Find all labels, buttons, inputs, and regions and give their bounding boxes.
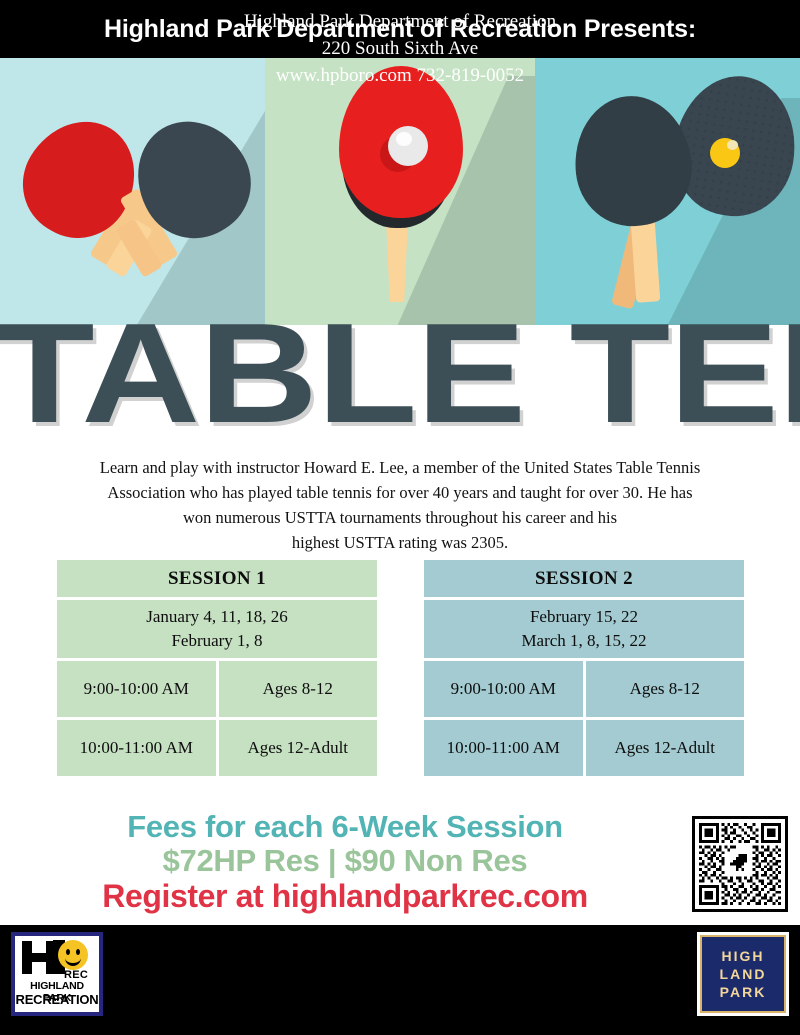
description-line-2: Association who has played table tennis … (0, 480, 800, 505)
hero-panel-red-paddle (265, 58, 535, 325)
description-line-4: highest USTTA rating was 2305. (0, 530, 800, 555)
fees-prices: $72HP Res | $90 Non Res (0, 844, 690, 878)
session-dates-line-1: January 4, 11, 18, 26 (146, 605, 288, 629)
rubber-dots-texture (569, 90, 698, 231)
session-slot-time: 9:00-10:00 AM (57, 661, 216, 717)
session-slot-time: 9:00-10:00 AM (424, 661, 583, 717)
fees-block: Fees for each 6-Week Session $72HP Res |… (0, 810, 690, 914)
fees-heading: Fees for each 6-Week Session (0, 810, 690, 844)
table-row: 9:00-10:00 AM Ages 8-12 (424, 661, 744, 717)
description-line-1: Learn and play with instructor Howard E.… (0, 455, 800, 480)
footer-bar (0, 925, 800, 1035)
table-row: 9:00-10:00 AM Ages 8-12 (57, 661, 377, 717)
session-slot-ages: Ages 12-Adult (219, 720, 378, 776)
hp-recreation-logo: REC HIGHLAND PARK RECREATION (11, 932, 103, 1016)
qr-code[interactable] (692, 816, 788, 912)
session-slot-time: 10:00-11:00 AM (57, 720, 216, 776)
highland-park-logo-line-3: PARK (720, 983, 767, 1001)
highland-park-logo-line-2: LAND (720, 965, 767, 983)
session-slot-ages: Ages 12-Adult (586, 720, 745, 776)
footer-line-2: 220 South Sixth Ave (160, 35, 640, 62)
flyer-page: Highland Park Department of Recreation P… (0, 0, 800, 1035)
page-title: TABLE TENNIS (0, 318, 800, 446)
session-dates-line-2: March 1, 8, 15, 22 (521, 629, 646, 653)
description-paragraph: Learn and play with instructor Howard E.… (0, 455, 800, 555)
logo-line-2: RECREATION (15, 992, 99, 1007)
table-row: SESSION 2 (424, 560, 744, 597)
session-heading: SESSION 1 (57, 560, 377, 597)
yellow-ball-highlight (727, 140, 738, 150)
session-heading: SESSION 2 (424, 560, 744, 597)
table-row: 10:00-11:00 AM Ages 12-Adult (424, 720, 744, 776)
table-row: January 4, 11, 18, 26 February 1, 8 (57, 600, 377, 658)
register-link[interactable]: Register at highlandparkrec.com (0, 878, 690, 914)
highland-park-logo-line-1: HIGH (722, 947, 765, 965)
hero-image-strip (0, 58, 800, 325)
footer-line-3: www.hpboro.com 732-819-0052 (160, 62, 640, 89)
table-row: 10:00-11:00 AM Ages 12-Adult (57, 720, 377, 776)
session-dates: January 4, 11, 18, 26 February 1, 8 (57, 600, 377, 658)
hero-panel-crossed-paddles (0, 58, 265, 325)
title-block: TABLE TENNIS (0, 318, 800, 446)
logo-letter-h (22, 941, 56, 974)
table-row: February 15, 22 March 1, 8, 15, 22 (424, 600, 744, 658)
session-slot-ages: Ages 8-12 (219, 661, 378, 717)
session-2-table: SESSION 2 February 15, 22 March 1, 8, 15… (424, 560, 744, 779)
highland-park-logo: HIGH LAND PARK (697, 932, 789, 1016)
session-dates-line-2: February 1, 8 (171, 629, 262, 653)
paddle-blade-front-dark (569, 90, 698, 231)
session-slot-ages: Ages 8-12 (586, 661, 745, 717)
session-1-table: SESSION 1 January 4, 11, 18, 26 February… (57, 560, 377, 779)
smiley-face-icon (58, 940, 88, 970)
session-slot-time: 10:00-11:00 AM (424, 720, 583, 776)
ball-highlight (396, 132, 412, 146)
footer-line-1: Highland Park Department of Recreation (160, 8, 640, 35)
session-dates-line-1: February 15, 22 (530, 605, 638, 629)
session-dates: February 15, 22 March 1, 8, 15, 22 (424, 600, 744, 658)
footer-contact-info: Highland Park Department of Recreation 2… (160, 8, 640, 89)
qr-code-icon (699, 823, 781, 905)
description-line-3: won numerous USTTA tournaments throughou… (0, 505, 800, 530)
table-row: SESSION 1 (57, 560, 377, 597)
sessions-area: SESSION 1 January 4, 11, 18, 26 February… (0, 560, 800, 790)
hero-panel-dark-paddles (535, 58, 800, 325)
